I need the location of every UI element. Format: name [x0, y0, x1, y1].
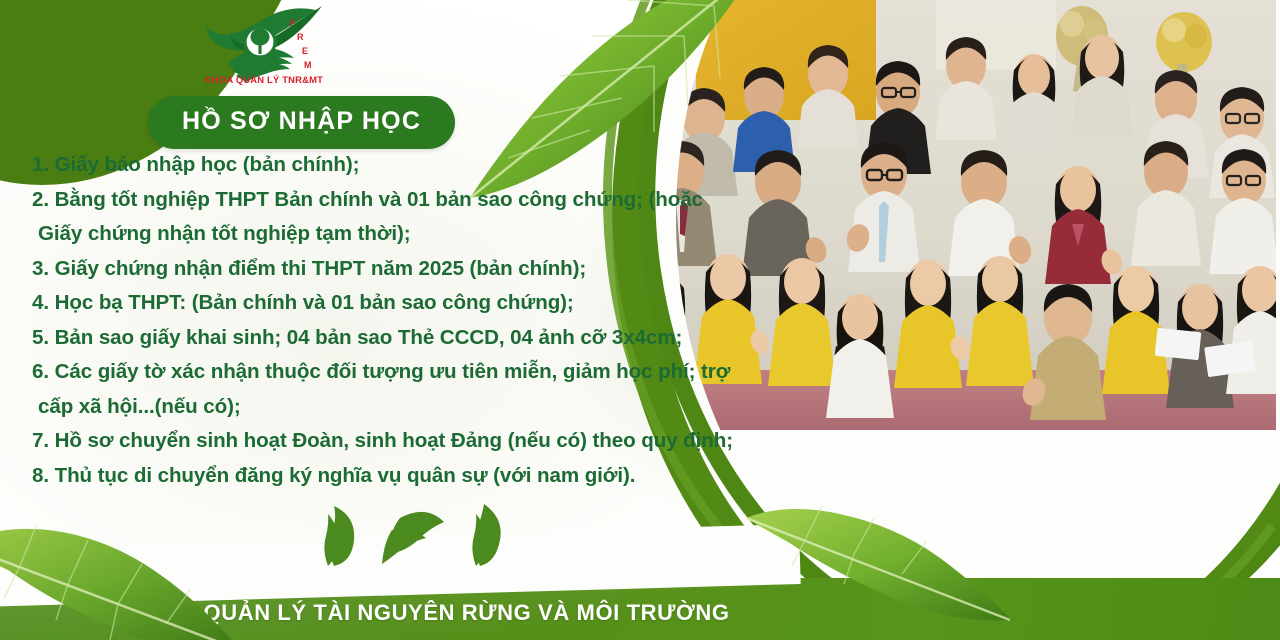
- document-requirements-list: 1. Giấy báo nhập học (bản chính);2. Bằng…: [32, 148, 792, 493]
- document-line: Giấy chứng nhận tốt nghiệp tạm thời);: [32, 217, 792, 252]
- svg-text:E: E: [302, 46, 308, 56]
- svg-text:R: R: [297, 32, 304, 42]
- decorative-leaf-bottom-left: [0, 486, 244, 640]
- page-title-badge: HỒ SƠ NHẬP HỌC: [148, 96, 455, 149]
- document-line: 4. Học bạ THPT: (Bản chính và 01 bản sao…: [32, 286, 792, 321]
- decorative-leaf-bottom-right: [744, 492, 1014, 632]
- document-line: 3. Giấy chứng nhận điểm thi THPT năm 202…: [32, 252, 792, 287]
- document-line: 2. Bằng tốt nghiệp THPT Bản chính và 01 …: [32, 183, 792, 218]
- khoa-qltnrmt-logo: F R E M KHOA QUẢN LÝ TNR&MT: [198, 4, 330, 86]
- poster-root: F R E M KHOA QUẢN LÝ TNR&MT HỒ SƠ NHẬP H…: [0, 0, 1280, 640]
- svg-text:F: F: [290, 18, 296, 28]
- document-line: 5. Bản sao giấy khai sinh; 04 bản sao Th…: [32, 321, 792, 356]
- logo-caption: KHOA QUẢN LÝ TNR&MT: [205, 74, 323, 85]
- document-line: 1. Giấy báo nhập học (bản chính);: [32, 148, 792, 183]
- document-line: 8. Thủ tục di chuyển đăng ký nghĩa vụ qu…: [32, 459, 792, 494]
- logo-mark: F R E M KHOA QUẢN LÝ TNR&MT: [198, 4, 330, 86]
- document-line: 7. Hồ sơ chuyển sinh hoạt Đoàn, sinh hoạ…: [32, 424, 792, 459]
- document-line: cấp xã hội...(nếu có);: [32, 390, 792, 425]
- svg-text:M: M: [304, 60, 312, 70]
- document-line: 6. Các giấy tờ xác nhận thuộc đối tượng …: [32, 355, 792, 390]
- leaf-ornament-group: [316, 500, 536, 568]
- page-title: HỒ SƠ NHẬP HỌC: [182, 107, 421, 135]
